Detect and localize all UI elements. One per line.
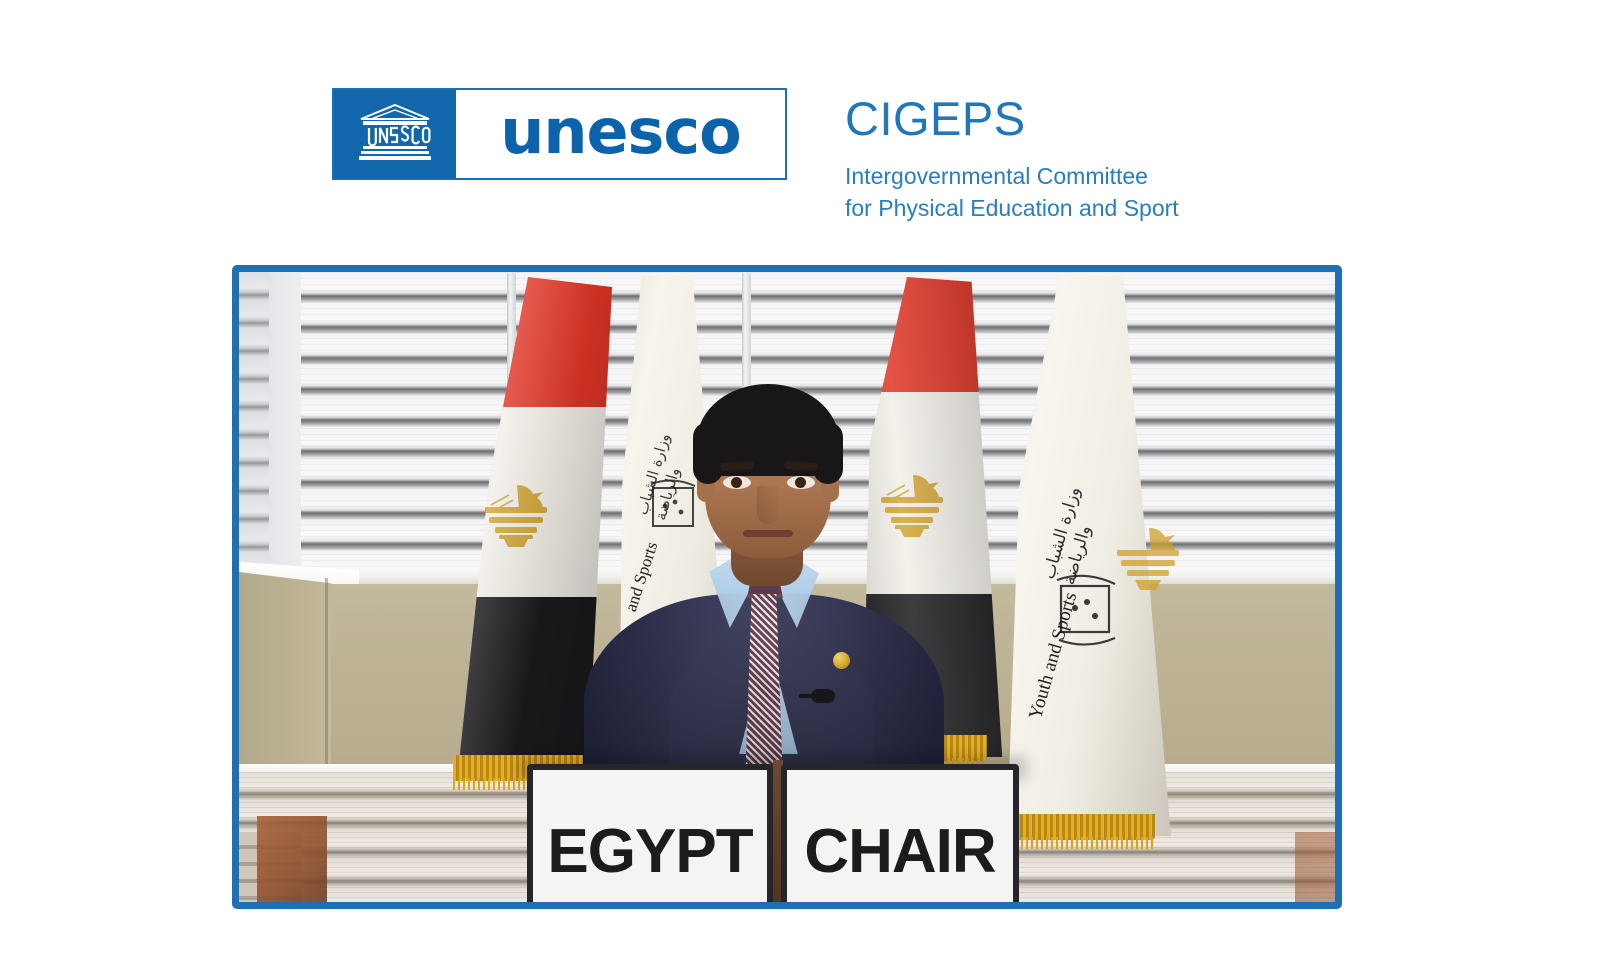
speaker-eye-right [787, 476, 815, 489]
page-root: unesco CIGEPS Intergovernmental Committe… [0, 0, 1600, 971]
program-subtitle: Intergovernmental Committee for Physical… [845, 161, 1179, 224]
header: unesco CIGEPS Intergovernmental Committe… [332, 88, 1179, 224]
speaker-hair [697, 384, 839, 476]
lapel-pin-icon [833, 652, 850, 669]
nameplate-role-label: CHAIR [804, 821, 995, 883]
unesco-temple-icon [334, 90, 456, 178]
program-title: CIGEPS [845, 94, 1179, 143]
speaker-mouth [743, 530, 793, 537]
speaker-nose [757, 486, 779, 524]
nameplate-country: EGYPT [527, 764, 773, 902]
lavalier-microphone-icon [811, 689, 835, 703]
video-frame[interactable]: وزارة الشباب والرياضة and Sports [232, 265, 1342, 909]
unesco-wordmark-text: unesco [500, 101, 741, 167]
program-titles: CIGEPS Intergovernmental Committee for P… [845, 88, 1179, 224]
video-scene: وزارة الشباب والرياضة and Sports [239, 272, 1335, 902]
nameplate-role: CHAIR [781, 764, 1019, 902]
unesco-logo: unesco [332, 88, 787, 180]
program-subtitle-line-2: for Physical Education and Sport [845, 193, 1179, 224]
nameplate-country-label: EGYPT [547, 821, 752, 883]
unesco-wordmark: unesco [456, 90, 785, 178]
program-subtitle-line-1: Intergovernmental Committee [845, 161, 1179, 192]
speaker-eye-left [723, 476, 751, 489]
